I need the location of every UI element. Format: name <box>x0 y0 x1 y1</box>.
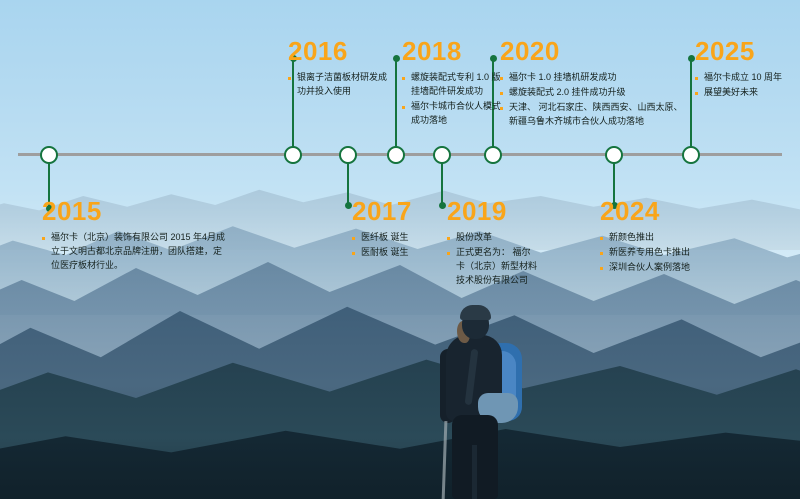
timeline-bullet-item: 螺旋装配式 2.0 挂件成功升级 <box>500 86 685 100</box>
timeline-bullet-item: 福尔卡（北京）装饰有限公司 2015 年4月成立于文明古都北京品牌注册，团队搭建… <box>42 231 227 273</box>
timeline-bullet-list: 螺旋装配式专利 1.0 版挂墙配件研发成功福尔卡城市合伙人模式成功落地 <box>402 71 502 128</box>
hiker-cap <box>460 305 491 320</box>
hiker-leg-split <box>472 445 477 499</box>
timeline-bullet-item: 福尔卡城市合伙人模式成功落地 <box>402 100 502 128</box>
timeline-bullet-item: 银离子洁菌板材研发成功并投入使用 <box>288 71 388 99</box>
timeline-year-label: 2016 <box>288 38 388 64</box>
timeline-entry-2025: 2025福尔卡成立 10 周年展望美好未来 <box>695 38 800 101</box>
timeline-bullet-item: 螺旋装配式专利 1.0 版挂墙配件研发成功 <box>402 71 502 99</box>
timeline-stem <box>395 58 398 153</box>
timeline-entry-2019: 2019股份改革正式更名为： 福尔卡（北京）新型材料技术股份有限公司 <box>447 198 537 289</box>
timeline-bullet-item: 福尔卡 1.0 挂墙机研发成功 <box>500 71 685 85</box>
timeline-node-2019[interactable] <box>433 146 451 164</box>
timeline-year-label: 2025 <box>695 38 800 64</box>
timeline-node-2024[interactable] <box>605 146 623 164</box>
timeline-node-2016[interactable] <box>284 146 302 164</box>
timeline-entry-2016: 2016银离子洁菌板材研发成功并投入使用 <box>288 38 388 100</box>
timeline-entry-2024: 2024新颜色推出新医养专用色卡推出深圳合伙人案例落地 <box>600 198 720 276</box>
timeline-bullet-list: 股份改革正式更名为： 福尔卡（北京）新型材料技术股份有限公司 <box>447 231 537 288</box>
timeline-year-label: 2020 <box>500 38 685 64</box>
timeline-bullet-list: 新颜色推出新医养专用色卡推出深圳合伙人案例落地 <box>600 231 720 275</box>
timeline-year-label: 2018 <box>402 38 502 64</box>
timeline-bullet-item: 新颜色推出 <box>600 231 720 245</box>
timeline-infographic: 2015福尔卡（北京）装饰有限公司 2015 年4月成立于文明古都北京品牌注册，… <box>0 0 800 499</box>
timeline-stem-dot <box>393 55 400 62</box>
timeline-entry-2020: 2020福尔卡 1.0 挂墙机研发成功螺旋装配式 2.0 挂件成功升级天津、 河… <box>500 38 685 130</box>
timeline-bullet-list: 福尔卡 1.0 挂墙机研发成功螺旋装配式 2.0 挂件成功升级天津、 河北石家庄… <box>500 71 685 129</box>
timeline-entry-2018: 2018螺旋装配式专利 1.0 版挂墙配件研发成功福尔卡城市合伙人模式成功落地 <box>402 38 502 129</box>
timeline-node-2018[interactable] <box>387 146 405 164</box>
timeline-entry-2017: 2017医纤板 诞生医耐板 诞生 <box>352 198 442 261</box>
timeline-entry-2015: 2015福尔卡（北京）装饰有限公司 2015 年4月成立于文明古都北京品牌注册，… <box>42 198 227 274</box>
timeline-bullet-list: 医纤板 诞生医耐板 诞生 <box>352 231 442 260</box>
timeline-year-label: 2019 <box>447 198 537 224</box>
timeline-bullet-item: 医耐板 诞生 <box>352 246 442 260</box>
timeline-bullet-item: 股份改革 <box>447 231 537 245</box>
timeline-bullet-list: 银离子洁菌板材研发成功并投入使用 <box>288 71 388 99</box>
timeline-bullet-item: 展望美好未来 <box>695 86 800 100</box>
timeline-stem-dot <box>688 55 695 62</box>
timeline-bullet-item: 正式更名为： 福尔卡（北京）新型材料技术股份有限公司 <box>447 246 537 288</box>
timeline-stem-dot <box>345 202 352 209</box>
timeline-year-label: 2017 <box>352 198 442 224</box>
trekking-pole <box>442 421 448 499</box>
timeline-year-label: 2015 <box>42 198 227 224</box>
timeline-bullet-list: 福尔卡成立 10 周年展望美好未来 <box>695 71 800 100</box>
timeline-stem <box>690 58 693 153</box>
timeline-bullet-item: 医纤板 诞生 <box>352 231 442 245</box>
timeline-node-2025[interactable] <box>682 146 700 164</box>
timeline-node-2015[interactable] <box>40 146 58 164</box>
hiker-figure <box>424 305 544 499</box>
timeline-bullet-item: 深圳合伙人案例落地 <box>600 261 720 275</box>
timeline-bullet-list: 福尔卡（北京）装饰有限公司 2015 年4月成立于文明古都北京品牌注册，团队搭建… <box>42 231 227 273</box>
timeline-node-2020[interactable] <box>484 146 502 164</box>
timeline-bullet-item: 新医养专用色卡推出 <box>600 246 720 260</box>
timeline-bullet-item: 福尔卡成立 10 周年 <box>695 71 800 85</box>
timeline-bullet-item: 天津、 河北石家庄、陕西西安、山西太原、新疆乌鲁木齐城市合伙人成功落地 <box>500 101 685 129</box>
timeline-year-label: 2024 <box>600 198 720 224</box>
timeline-node-2017[interactable] <box>339 146 357 164</box>
